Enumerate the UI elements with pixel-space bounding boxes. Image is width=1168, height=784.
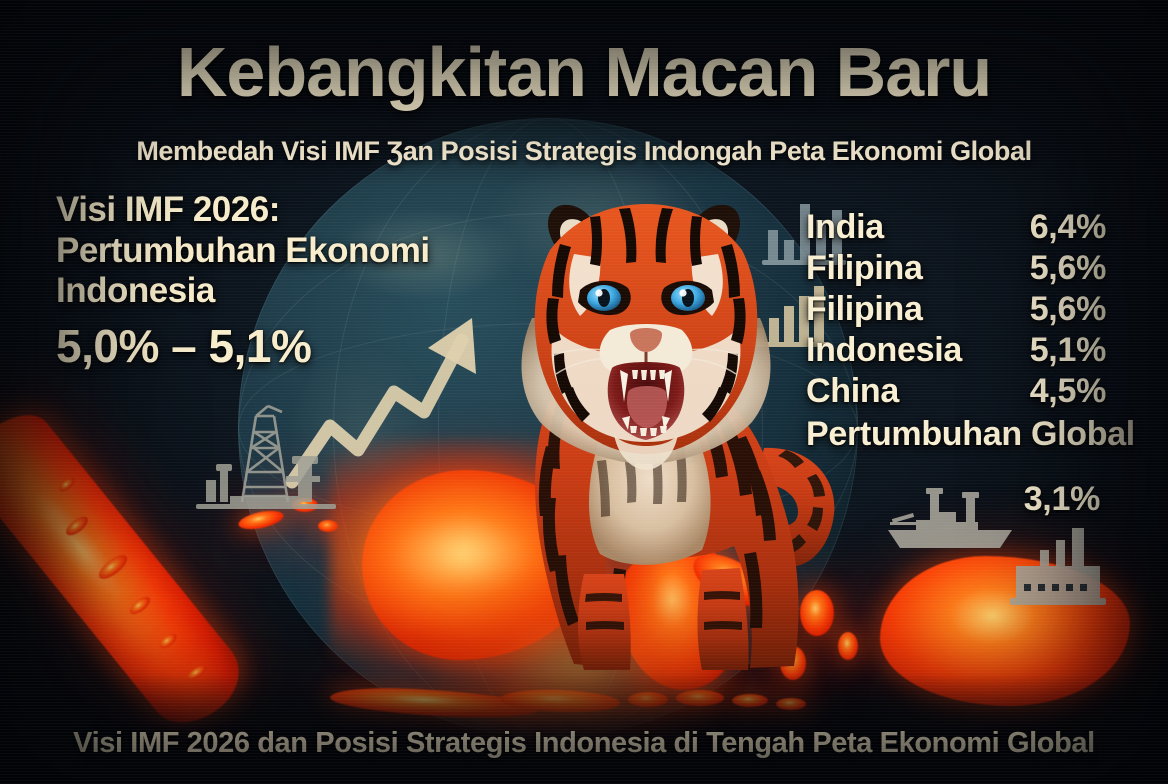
stat-value: 6,4% xyxy=(1030,208,1106,247)
roaring-tiger-illustration xyxy=(434,178,864,678)
page-subtitle: Membedah Visi IMF Ʒan Posisi Strategis I… xyxy=(0,136,1168,167)
imf-vision-block: Visi IMF 2026: Pertumbuhan Ekonomi Indon… xyxy=(56,190,476,373)
imf-vision-line-1: Visi IMF 2026: xyxy=(56,190,476,231)
stat-row: Filipina 5,6% xyxy=(806,290,1106,331)
page-title: Kebangkitan Macan Baru xyxy=(0,32,1168,112)
footer-caption: Visi IMF 2026 dan Posisi Strategis Indon… xyxy=(0,727,1168,760)
growth-stats-list: India 6,4% Filipina 5,6% Filipina 5,6% I… xyxy=(806,208,1106,519)
imf-vision-line-2: Pertumbuhan Ekonomi xyxy=(56,231,476,272)
infographic-poster: Kebangkitan Macan Baru Membedah Visi IMF… xyxy=(0,0,1168,784)
factory-icon xyxy=(1010,520,1106,610)
imf-vision-value: 5,0% – 5,1% xyxy=(56,320,476,373)
global-growth-value: 3,1% xyxy=(806,480,1106,519)
global-growth-label: Pertumbuhan Global xyxy=(806,415,1106,454)
imf-vision-line-3: Indonesia xyxy=(56,271,476,312)
stat-row: China 4,5% xyxy=(806,372,1106,413)
stat-label: Filipina xyxy=(806,290,923,329)
stat-label: Filipina xyxy=(806,249,923,288)
oil-rig-icon xyxy=(190,392,340,522)
stat-value: 4,5% xyxy=(1030,372,1106,411)
stat-row: India 6,4% xyxy=(806,208,1106,249)
stat-row: Filipina 5,6% xyxy=(806,249,1106,290)
stat-value: 5,1% xyxy=(1030,331,1106,370)
stat-label: China xyxy=(806,372,899,411)
stat-row: Indonesia 5,1% xyxy=(806,331,1106,372)
stat-value: 5,6% xyxy=(1030,290,1106,329)
stat-value: 5,6% xyxy=(1030,249,1106,288)
stat-label: Indonesia xyxy=(806,331,962,370)
stat-label: India xyxy=(806,208,884,247)
